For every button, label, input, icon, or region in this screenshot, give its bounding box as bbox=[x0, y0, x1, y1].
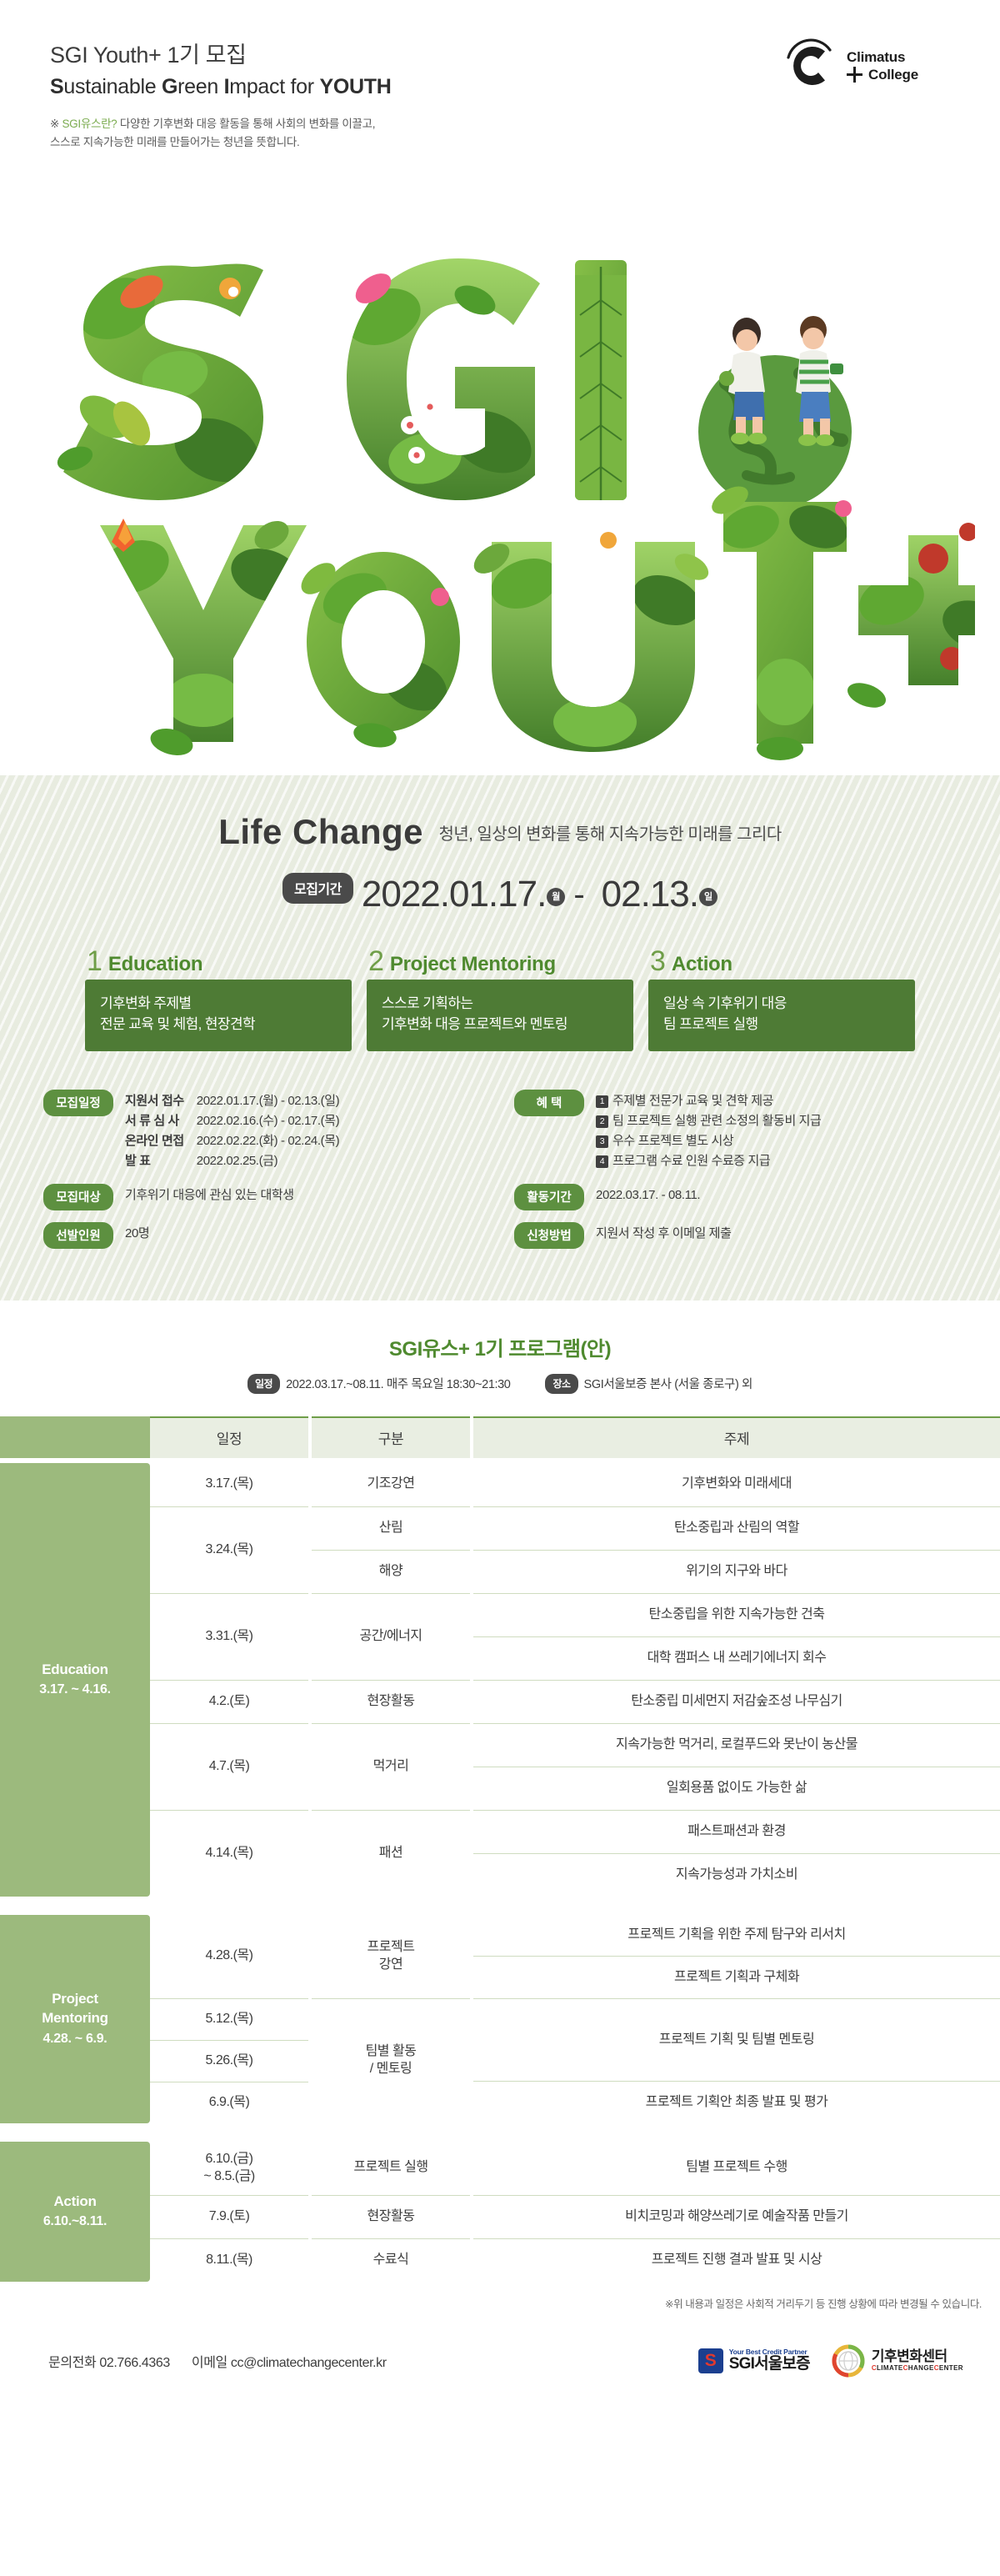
card-project-mentoring-line1: 스스로 기획하는 bbox=[382, 993, 618, 1015]
column-header-type: 구분 bbox=[312, 1416, 470, 1458]
ccc-sub-limate: LIMATE bbox=[877, 2364, 903, 2372]
info-row-activity-period: 활동기간 2022.03.17. - 08.11. bbox=[514, 1184, 957, 1210]
footer-logos: Your Best Credit Partner SGI서울보증 기후변화센터 … bbox=[698, 2344, 963, 2378]
row-date: 6.10.(금) ~ 8.5.(금) bbox=[150, 2142, 308, 2195]
card-action-name: Action bbox=[672, 955, 732, 975]
row-topic: 지속가능한 먹거리, 로컬푸드와 못난이 농산물 bbox=[473, 1723, 1000, 1767]
card-education-head: 1 Education bbox=[85, 949, 352, 975]
row-date: 6.9.(목) bbox=[150, 2082, 308, 2123]
row-subtopics: 프로젝트 기획 및 팀별 멘토링 프로젝트 기획안 최종 발표 및 평가 bbox=[473, 1998, 1000, 2123]
block-label-education-name: Education bbox=[42, 1661, 107, 1680]
row-topic: 위기의 지구와 바다 bbox=[473, 1550, 1000, 1593]
schedule-label-3: 발 표 bbox=[125, 1151, 193, 1171]
hero-illustration bbox=[25, 208, 975, 775]
row-subtopics: 패스트패션과 환경 지속가능성과 가치소비 bbox=[473, 1810, 1000, 1897]
date-range-dash: - bbox=[573, 876, 584, 913]
schedule-line-0: 지원서 접수 2022.01.17.(월) - 02.13.(일) bbox=[125, 1091, 339, 1111]
schedule-value-2: 2022.02.22.(화) - 02.24.(목) bbox=[197, 1134, 339, 1148]
footer-phone-label: 문의전화 bbox=[48, 2356, 96, 2370]
sgi-seoul-guarantee-logo: Your Best Credit Partner SGI서울보증 bbox=[698, 2348, 810, 2373]
block-label-project-mentoring-range: 4.28. ~ 6.9. bbox=[43, 2030, 107, 2048]
row-type: 해양 bbox=[312, 1550, 470, 1593]
schedule-value-0: 2022.01.17.(월) - 02.13.(일) bbox=[197, 1094, 339, 1108]
program-block-project-mentoring: Project Mentoring 4.28. ~ 6.9. 4.28.(목) … bbox=[0, 1915, 1000, 2123]
block-label-project-mentoring: Project Mentoring 4.28. ~ 6.9. bbox=[0, 1915, 150, 2123]
logo-plus-icon bbox=[847, 67, 862, 83]
block-label-project-mentoring-name2: Mentoring bbox=[42, 2009, 107, 2028]
block-label-project-mentoring-name1: Project bbox=[52, 1990, 98, 2009]
life-change-heading: Life Change 청년, 일상의 변화를 통해 지속가능한 미래를 그리다 bbox=[0, 812, 1000, 852]
subtitle-reen: reen bbox=[177, 75, 223, 98]
program-block-action: Action 6.10.~8.11. 6.10.(금) ~ 8.5.(금) 프로… bbox=[0, 2142, 1000, 2282]
info-row-count: 선발인원 20명 bbox=[43, 1222, 486, 1249]
row-topic: 탄소중립 미세먼지 저감숲조성 나무심기 bbox=[473, 1680, 1000, 1723]
ccc-name: 기후변화센터 bbox=[872, 2349, 963, 2365]
climatus-c-mark-icon bbox=[782, 38, 837, 93]
tag-selection-count: 선발인원 bbox=[43, 1222, 113, 1249]
schedule-line-1: 서 류 심 사 2022.02.16.(수) - 02.17.(목) bbox=[125, 1111, 339, 1131]
row-date: 5.12.(목) bbox=[150, 1998, 308, 2040]
row-type: 프로젝트 실행 bbox=[312, 2142, 470, 2195]
benefit-number-0: 1 bbox=[596, 1095, 608, 1108]
benefit-number-2: 3 bbox=[596, 1135, 608, 1148]
column-header-topic: 주제 bbox=[473, 1416, 1000, 1458]
benefit-item-3: 4프로그램 수료 인원 수료증 지급 bbox=[596, 1151, 821, 1171]
card-project-mentoring: 2 Project Mentoring 스스로 기획하는 기후변화 대응 프로젝… bbox=[367, 949, 633, 1051]
program-table-header: 일정 구분 주제 bbox=[0, 1416, 1000, 1458]
info-row-schedule: 모집일정 지원서 접수 2022.01.17.(월) - 02.13.(일) 서… bbox=[43, 1090, 486, 1172]
recruit-start-date: 2022.01.17. bbox=[362, 874, 546, 915]
recruit-period-badge: 모집기간 bbox=[282, 873, 353, 904]
row-topic: 비치코밍과 해양쓰레기로 예술작품 만들기 bbox=[473, 2195, 1000, 2238]
recruit-start-day-badge: 월 bbox=[547, 888, 565, 906]
block-rows-action: 6.10.(금) ~ 8.5.(금) 프로젝트 실행 팀별 프로젝트 수행 7.… bbox=[150, 2142, 1000, 2282]
life-change-panel: Life Change 청년, 일상의 변화를 통해 지속가능한 미래를 그리다… bbox=[0, 775, 1000, 1301]
poster-footer: 문의전화 02.766.4363이메일 cc@climatechangecent… bbox=[0, 2319, 1000, 2399]
note-line-2: 스스로 지속가능한 미래를 만들어가는 청년을 뜻합니다. bbox=[50, 136, 299, 148]
card-project-mentoring-line2: 기후변화 대응 프로젝트와 멘토링 bbox=[382, 1014, 618, 1035]
card-education: 1 Education 기후변화 주제별 전문 교육 및 체험, 현장견학 bbox=[85, 949, 352, 1051]
subtitle-ustainable: ustainable bbox=[63, 75, 162, 98]
card-action-body: 일상 속 기후위기 대응 팀 프로젝트 실행 bbox=[648, 980, 915, 1051]
row-type: 산림 bbox=[312, 1506, 470, 1550]
row-type: 공간/에너지 bbox=[312, 1593, 470, 1680]
table-row: 4.14.(목) 패션 패스트패션과 환경 지속가능성과 가치소비 bbox=[150, 1810, 1000, 1897]
schedule-value-1: 2022.02.16.(수) - 02.17.(목) bbox=[197, 1114, 339, 1128]
card-action-head: 3 Action bbox=[648, 949, 915, 975]
table-header-spacer bbox=[0, 1416, 150, 1458]
recruit-end-day-badge: 일 bbox=[699, 888, 717, 906]
subtitle-g: G bbox=[162, 75, 177, 98]
globe-group bbox=[698, 316, 852, 509]
recruit-period-line: 모집기간2022.01.17.월-02.13.일 bbox=[0, 874, 1000, 915]
row-subtopics: 탄소중립을 위한 지속가능한 건축 대학 캠퍼스 내 쓰레기에너지 회수 bbox=[473, 1593, 1000, 1680]
recruit-end-date: 02.13. bbox=[602, 874, 698, 915]
ccc-globe-icon bbox=[832, 2344, 865, 2378]
block-label-action: Action 6.10.~8.11. bbox=[0, 2142, 150, 2282]
row-topic: 프로젝트 기획을 위한 주제 탐구와 리서치 bbox=[473, 1915, 1000, 1957]
info-row-target: 모집대상 기후위기 대응에 관심 있는 대학생 bbox=[43, 1184, 486, 1210]
row-topic: 탄소중립을 위한 지속가능한 건축 bbox=[473, 1593, 1000, 1636]
table-row: 7.9.(토) 현장활동 비치코밍과 해양쓰레기로 예술작품 만들기 bbox=[150, 2195, 1000, 2238]
schedule-label-1: 서 류 심 사 bbox=[125, 1111, 193, 1131]
subtitle-s: S bbox=[50, 75, 63, 98]
card-education-body: 기후변화 주제별 전문 교육 및 체험, 현장견학 bbox=[85, 980, 352, 1051]
row-topic: 지속가능성과 가치소비 bbox=[473, 1853, 1000, 1897]
table-row: 8.11.(목) 수료식 프로젝트 진행 결과 발표 및 시상 bbox=[150, 2238, 1000, 2282]
sgi-mark-icon bbox=[698, 2348, 723, 2373]
header-note: ※ SGI유스란? 다양한 기후변화 대응 활동을 통해 사회의 변화를 이끌고… bbox=[50, 115, 950, 153]
block-rows-education: 3.17.(목) 기조강연 기후변화와 미래세대 3.24.(목) 산림 탄소중… bbox=[150, 1463, 1000, 1897]
sgi-logo-text: Your Best Credit Partner SGI서울보증 bbox=[729, 2348, 810, 2373]
subtitle-mpact-for: mpact for bbox=[229, 75, 319, 98]
recruit-schedule-lines: 지원서 접수 2022.01.17.(월) - 02.13.(일) 서 류 심 … bbox=[125, 1090, 339, 1172]
tag-recruit-target: 모집대상 bbox=[43, 1184, 113, 1210]
program-section: SGI유스+ 1기 프로그램(안) 일정2022.03.17.~08.11. 매… bbox=[0, 1301, 1000, 2319]
table-row: 4.2.(토) 현장활동 탄소중립 미세먼지 저감숲조성 나무심기 bbox=[150, 1680, 1000, 1723]
poster-header: SGI Youth+ 1기 모집 Sustainable Green Impac… bbox=[0, 0, 1000, 208]
row-date: 4.14.(목) bbox=[150, 1810, 308, 1897]
row-topic: 탄소중립과 산림의 역할 bbox=[473, 1506, 1000, 1550]
footer-contact: 문의전화 02.766.4363이메일 cc@climatechangecent… bbox=[48, 2351, 387, 2371]
sgi-name: SGI서울보증 bbox=[729, 2356, 810, 2373]
benefit-number-3: 4 bbox=[596, 1155, 608, 1168]
row-topic: 프로젝트 기획 및 팀별 멘토링 bbox=[473, 1998, 1000, 2082]
tag-activity-period: 활동기간 bbox=[514, 1184, 584, 1210]
table-row: 4.28.(목) 프로젝트 강연 프로젝트 기획을 위한 주제 탐구와 리서치 … bbox=[150, 1915, 1000, 1998]
table-row: 3.17.(목) 기조강연 기후변화와 미래세대 bbox=[150, 1463, 1000, 1506]
tag-benefits: 혜 택 bbox=[514, 1090, 584, 1116]
info-row-apply-method: 신청방법 지원서 작성 후 이메일 제출 bbox=[514, 1222, 957, 1249]
card-project-mentoring-number: 2 bbox=[368, 949, 384, 975]
card-action: 3 Action 일상 속 기후위기 대응 팀 프로젝트 실행 bbox=[648, 949, 915, 1051]
apply-method-value: 지원서 작성 후 이메일 제출 bbox=[596, 1222, 731, 1244]
row-date-stack: 5.12.(목) 5.26.(목) 6.9.(목) bbox=[150, 1998, 308, 2123]
ccc-sub-hange: HANGE bbox=[908, 2364, 934, 2372]
block-label-education: Education 3.17. ~ 4.16. bbox=[0, 1463, 150, 1897]
row-date: 7.9.(토) bbox=[150, 2195, 308, 2238]
schedule-label-2: 온라인 면접 bbox=[125, 1131, 193, 1151]
row-date: 3.17.(목) bbox=[150, 1463, 308, 1506]
row-type: 팀별 활동 / 멘토링 bbox=[312, 1998, 470, 2123]
row-type: 먹거리 bbox=[312, 1723, 470, 1810]
card-education-line2: 전문 교육 및 체험, 현장견학 bbox=[100, 1014, 337, 1035]
card-action-line2: 팀 프로젝트 실행 bbox=[663, 1014, 900, 1035]
schedule-label-0: 지원서 접수 bbox=[125, 1091, 193, 1111]
row-type: 현장활동 bbox=[312, 2195, 470, 2238]
card-action-number: 3 bbox=[650, 949, 666, 975]
card-project-mentoring-head: 2 Project Mentoring bbox=[367, 949, 633, 975]
footer-email-label: 이메일 bbox=[192, 2356, 227, 2370]
program-footnote: ※위 내용과 일정은 사회적 거리두기 등 진행 상황에 따라 변경될 수 있습… bbox=[0, 2282, 1000, 2311]
card-project-mentoring-name: Project Mentoring bbox=[390, 955, 556, 975]
benefit-item-0: 1주제별 전문가 교육 및 견학 제공 bbox=[596, 1091, 821, 1111]
row-topic: 일회용품 없이도 가능한 삶 bbox=[473, 1767, 1000, 1810]
row-subrows: 산림 탄소중립과 산림의 역할 해양 위기의 지구와 바다 bbox=[312, 1506, 1000, 1593]
row-date: 8.11.(목) bbox=[150, 2238, 308, 2282]
card-education-line1: 기후변화 주제별 bbox=[100, 993, 337, 1015]
tag-recruit-schedule: 모집일정 bbox=[43, 1090, 113, 1116]
card-action-line1: 일상 속 기후위기 대응 bbox=[663, 993, 900, 1015]
row-type: 현장활동 bbox=[312, 1680, 470, 1723]
life-change-tagline: 청년, 일상의 변화를 통해 지속가능한 미래를 그리다 bbox=[439, 825, 782, 844]
program-block-education: Education 3.17. ~ 4.16. 3.17.(목) 기조강연 기후… bbox=[0, 1463, 1000, 1897]
ccc-subname: CLIMATECHANGECENTER bbox=[872, 2365, 963, 2373]
benefit-text-2: 우수 프로젝트 별도 시상 bbox=[612, 1134, 733, 1148]
info-column-left: 모집일정 지원서 접수 2022.01.17.(월) - 02.13.(일) 서… bbox=[43, 1090, 486, 1260]
program-meta: 일정2022.03.17.~08.11. 매주 목요일 18:30~21:30장… bbox=[0, 1375, 1000, 1395]
badge-program-place: 장소 bbox=[545, 1374, 577, 1394]
climatus-college-logo: Climatus College bbox=[782, 37, 957, 98]
schedule-value-3: 2022.02.25.(금) bbox=[197, 1154, 277, 1168]
benefit-item-1: 2팀 프로젝트 실행 관련 소정의 활동비 지급 bbox=[596, 1111, 821, 1131]
table-row: 5.12.(목) 5.26.(목) 6.9.(목) 팀별 활동 / 멘토링 프로… bbox=[150, 1998, 1000, 2123]
row-type: 프로젝트 강연 bbox=[312, 1915, 470, 1998]
row-date: 3.31.(목) bbox=[150, 1593, 308, 1680]
poster-page: SGI Youth+ 1기 모집 Sustainable Green Impac… bbox=[0, 0, 1000, 2576]
row-date: 5.26.(목) bbox=[150, 2040, 308, 2082]
info-column-right: 혜 택 1주제별 전문가 교육 및 견학 제공 2팀 프로젝트 실행 관련 소정… bbox=[514, 1090, 957, 1260]
schedule-line-3: 발 표 2022.02.25.(금) bbox=[125, 1151, 339, 1171]
benefit-text-1: 팀 프로젝트 실행 관련 소정의 활동비 지급 bbox=[612, 1114, 821, 1128]
row-date: 3.24.(목) bbox=[150, 1506, 308, 1593]
row-date: 4.2.(토) bbox=[150, 1680, 308, 1723]
row-subtopics: 프로젝트 기획을 위한 주제 탐구와 리서치 프로젝트 기획과 구체화 bbox=[473, 1915, 1000, 1998]
life-change-title: Life Change bbox=[218, 812, 423, 851]
row-subtopics: 지속가능한 먹거리, 로컬푸드와 못난이 농산물 일회용품 없이도 가능한 삶 bbox=[473, 1723, 1000, 1810]
sgi-youth-leafy-lettering-icon bbox=[25, 208, 975, 767]
card-education-number: 1 bbox=[87, 949, 102, 975]
block-label-action-name: Action bbox=[53, 2193, 96, 2212]
row-topic: 프로젝트 기획과 구체화 bbox=[473, 1956, 1000, 1998]
table-row: 4.7.(목) 먹거리 지속가능한 먹거리, 로컬푸드와 못난이 농산물 일회용… bbox=[150, 1723, 1000, 1810]
tag-apply-method: 신청방법 bbox=[514, 1222, 584, 1249]
note-highlight: SGI유스란? bbox=[62, 118, 117, 130]
card-project-mentoring-body: 스스로 기획하는 기후변화 대응 프로젝트와 멘토링 bbox=[367, 980, 633, 1051]
column-header-date: 일정 bbox=[150, 1416, 308, 1458]
benefits-lines: 1주제별 전문가 교육 및 견학 제공 2팀 프로젝트 실행 관련 소정의 활동… bbox=[596, 1090, 821, 1172]
subtitle-youth: YOUTH bbox=[319, 75, 391, 98]
row-topic: 팀별 프로젝트 수행 bbox=[473, 2142, 1000, 2195]
selection-count-value: 20명 bbox=[125, 1222, 149, 1244]
row-topic: 프로젝트 진행 결과 발표 및 시상 bbox=[473, 2238, 1000, 2282]
table-row: 3.31.(목) 공간/에너지 탄소중립을 위한 지속가능한 건축 대학 캠퍼스… bbox=[150, 1593, 1000, 1680]
ccc-logo-text: 기후변화센터 CLIMATECHANGECENTER bbox=[872, 2349, 963, 2372]
table-row: 6.10.(금) ~ 8.5.(금) 프로젝트 실행 팀별 프로젝트 수행 bbox=[150, 2142, 1000, 2195]
program-title: SGI유스+ 1기 프로그램(안) bbox=[0, 1332, 1000, 1361]
info-row-benefits: 혜 택 1주제별 전문가 교육 및 견학 제공 2팀 프로젝트 실행 관련 소정… bbox=[514, 1090, 957, 1172]
badge-program-schedule: 일정 bbox=[247, 1374, 280, 1394]
benefit-number-1: 2 bbox=[596, 1115, 608, 1128]
row-topic: 프로젝트 기획안 최종 발표 및 평가 bbox=[473, 2081, 1000, 2122]
program-place-value: SGI서울보증 본사 (서울 종로구) 외 bbox=[584, 1378, 752, 1391]
block-label-action-range: 6.10.~8.11. bbox=[43, 2213, 107, 2231]
logo-name-line2: College bbox=[868, 67, 918, 83]
note-line-1: 다양한 기후변화 대응 활동을 통해 사회의 변화를 이끌고, bbox=[117, 118, 375, 130]
row-topic: 기후변화와 미래세대 bbox=[473, 1463, 1000, 1506]
benefit-text-0: 주제별 전문가 교육 및 견학 제공 bbox=[612, 1094, 773, 1108]
row-type: 수료식 bbox=[312, 2238, 470, 2282]
activity-period-value: 2022.03.17. - 08.11. bbox=[596, 1184, 700, 1205]
climate-change-center-logo: 기후변화센터 CLIMATECHANGECENTER bbox=[832, 2344, 963, 2378]
footer-phone-value: 02.766.4363 bbox=[99, 2356, 170, 2370]
row-date: 4.28.(목) bbox=[150, 1915, 308, 1998]
table-row: 3.24.(목) 산림 탄소중립과 산림의 역할 해양 위기의 지구와 바다 bbox=[150, 1506, 1000, 1593]
note-mark-icon: ※ bbox=[50, 118, 59, 130]
program-cards: 1 Education 기후변화 주제별 전문 교육 및 체험, 현장견학 2 … bbox=[0, 949, 1000, 1051]
ccc-sub-enter: ENTER bbox=[939, 2364, 963, 2372]
logo-name-line1: Climatus bbox=[847, 47, 905, 68]
row-date: 4.7.(목) bbox=[150, 1723, 308, 1810]
benefit-text-3: 프로그램 수료 인원 수료증 지급 bbox=[612, 1154, 770, 1168]
recruit-target-value: 기후위기 대응에 관심 있는 대학생 bbox=[125, 1184, 294, 1205]
schedule-line-2: 온라인 면접 2022.02.22.(화) - 02.24.(목) bbox=[125, 1131, 339, 1151]
benefit-item-2: 3우수 프로젝트 별도 시상 bbox=[596, 1131, 821, 1151]
info-section: 모집일정 지원서 접수 2022.01.17.(월) - 02.13.(일) 서… bbox=[0, 1051, 1000, 1267]
row-type: 패션 bbox=[312, 1810, 470, 1897]
program-schedule-value: 2022.03.17.~08.11. 매주 목요일 18:30~21:30 bbox=[286, 1378, 510, 1391]
row-type: 기조강연 bbox=[312, 1463, 470, 1506]
block-label-education-range: 3.17. ~ 4.16. bbox=[39, 1681, 111, 1699]
block-rows-project-mentoring: 4.28.(목) 프로젝트 강연 프로젝트 기획을 위한 주제 탐구와 리서치 … bbox=[150, 1915, 1000, 2123]
row-topic: 대학 캠퍼스 내 쓰레기에너지 회수 bbox=[473, 1636, 1000, 1680]
card-education-name: Education bbox=[108, 955, 202, 975]
footer-email-value: cc@climatechangecenter.kr bbox=[231, 2356, 387, 2370]
row-topic: 패스트패션과 환경 bbox=[473, 1810, 1000, 1853]
